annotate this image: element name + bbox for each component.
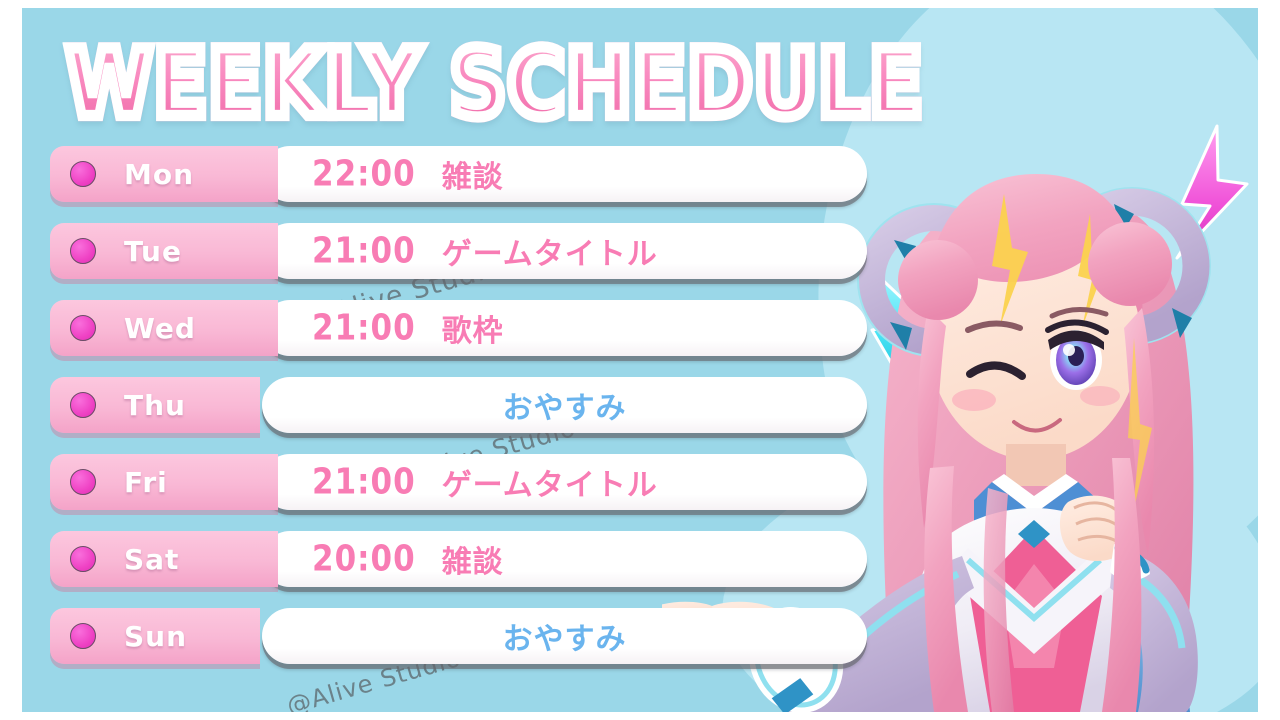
headphone-right — [1058, 192, 1206, 340]
day-label: Fri — [124, 466, 168, 499]
bullet-dot-icon — [70, 546, 96, 572]
arm-upper-right — [1110, 548, 1198, 712]
lightning-bolt-cyan-icon — [870, 268, 940, 378]
schedule-bar: 21:00ゲームタイトル — [262, 454, 867, 510]
day-label: Sun — [124, 620, 187, 653]
schedule-row: 21:00ゲームタイトルFri — [40, 454, 880, 510]
page-title: WEEKLY SCHEDULE — [66, 38, 924, 131]
schedule-bar: 20:00雑談 — [262, 531, 867, 587]
bullet-dot-icon — [70, 238, 96, 264]
bullet-dot-icon — [70, 623, 96, 649]
bullet-dot-icon — [70, 161, 96, 187]
schedule-row: 22:00雑談Mon — [40, 146, 880, 202]
schedule-row: おやすみThu — [40, 377, 880, 433]
schedule-time: 21:00 — [312, 230, 416, 271]
schedule-bar: 21:00歌枠 — [262, 300, 867, 356]
schedule-row: 21:00ゲームタイトルTue — [40, 223, 880, 279]
schedule-bar-content: 21:00ゲームタイトル — [262, 460, 658, 504]
schedule-row: 21:00歌枠Wed — [40, 300, 880, 356]
schedule-task: 歌枠 — [442, 306, 504, 350]
lightning-bolt-magenta-icon — [1177, 126, 1247, 258]
headphone-left — [862, 208, 1006, 352]
schedule-bar: おやすみ — [262, 377, 867, 433]
schedule-task: ゲームタイトル — [442, 229, 658, 273]
schedule-bar: おやすみ — [262, 608, 867, 664]
schedule-rest-label: おやすみ — [503, 383, 627, 427]
schedule-bar-content: 21:00歌枠 — [262, 306, 504, 350]
schedule-time: 21:00 — [312, 307, 416, 348]
day-pill-tue: Tue — [50, 223, 278, 279]
day-label: Sat — [124, 543, 179, 576]
schedule-graphic: @Alive Studio @Alive Studio @Alive Studi… — [0, 0, 1280, 720]
day-label: Wed — [124, 312, 196, 345]
day-pill-thu: Thu — [50, 377, 260, 433]
canvas: @Alive Studio @Alive Studio @Alive Studi… — [22, 8, 1258, 712]
eye-wink — [970, 365, 1022, 376]
bullet-dot-icon — [70, 469, 96, 495]
schedule-row: 20:00雑談Sat — [40, 531, 880, 587]
bullet-dot-icon — [70, 315, 96, 341]
schedule-time: 21:00 — [312, 461, 416, 502]
day-pill-sat: Sat — [50, 531, 278, 587]
schedule-bar-content: 21:00ゲームタイトル — [262, 229, 658, 273]
schedule-task: 雑談 — [442, 152, 504, 196]
day-pill-wed: Wed — [50, 300, 278, 356]
day-pill-sun: Sun — [50, 608, 260, 664]
day-label: Mon — [124, 158, 194, 191]
schedule-task: 雑談 — [442, 537, 504, 581]
day-label: Tue — [124, 235, 182, 268]
schedule-row: おやすみSun — [40, 608, 880, 664]
schedule-time: 22:00 — [312, 153, 416, 194]
bullet-dot-icon — [70, 392, 96, 418]
schedule-task: ゲームタイトル — [442, 460, 658, 504]
schedule-bar: 22:00雑談 — [262, 146, 867, 202]
schedule-bar: 21:00ゲームタイトル — [262, 223, 867, 279]
schedule-bar-content: おやすみ — [262, 614, 867, 658]
eye-open — [1048, 322, 1106, 390]
schedule-rest-label: おやすみ — [503, 614, 627, 658]
day-pill-mon: Mon — [50, 146, 278, 202]
hand-on-chest — [1060, 496, 1134, 561]
schedule-list: 22:00雑談Mon21:00ゲームタイトルTue21:00歌枠WedおやすみT… — [40, 146, 880, 685]
day-label: Thu — [124, 389, 186, 422]
schedule-bar-content: 22:00雑談 — [262, 152, 504, 196]
day-pill-fri: Fri — [50, 454, 278, 510]
schedule-bar-content: 20:00雑談 — [262, 537, 504, 581]
schedule-bar-content: おやすみ — [262, 383, 867, 427]
schedule-time: 20:00 — [312, 538, 416, 579]
